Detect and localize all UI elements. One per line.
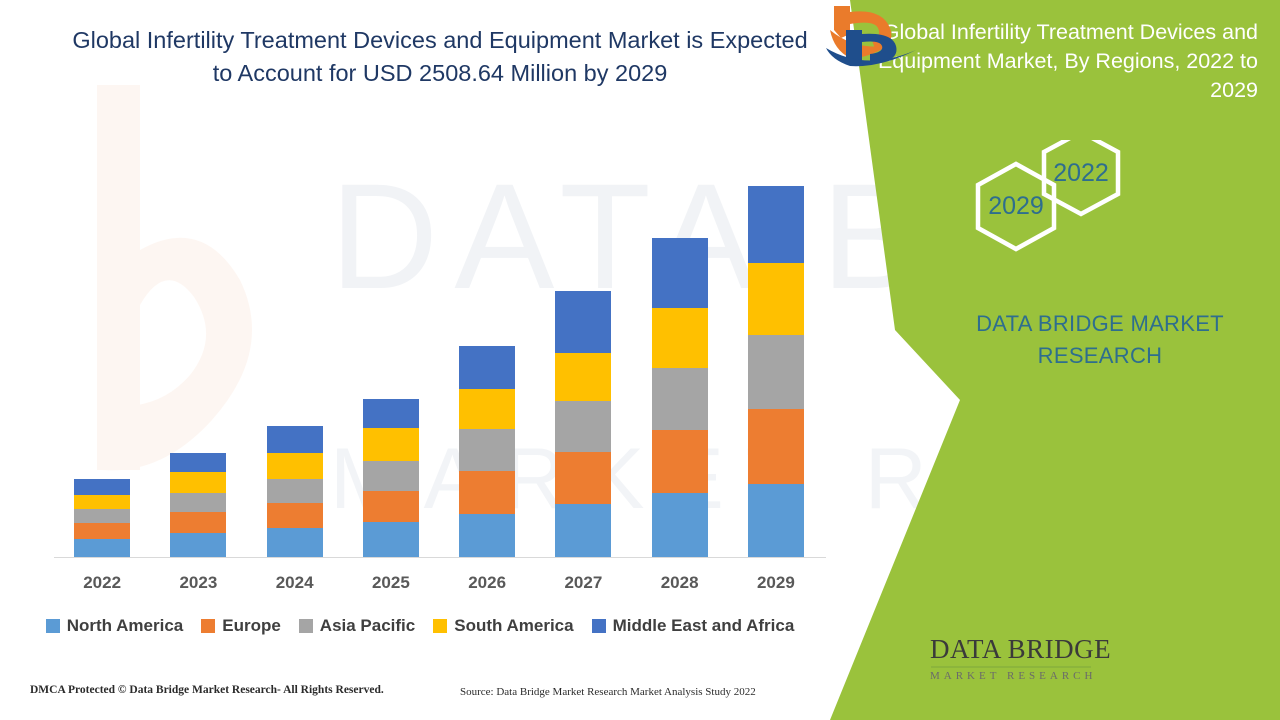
bar-2027 bbox=[555, 291, 611, 557]
x-axis-label-2025: 2025 bbox=[343, 573, 439, 593]
legend-label: North America bbox=[67, 616, 184, 636]
bar-segment bbox=[748, 263, 804, 335]
bar-segment bbox=[459, 389, 515, 429]
bar-segment bbox=[459, 514, 515, 557]
bar-segment bbox=[363, 461, 419, 491]
footer-copyright: DMCA Protected © Data Bridge Market Rese… bbox=[30, 684, 384, 696]
bar-segment bbox=[459, 471, 515, 514]
data-bridge-logo-icon bbox=[820, 0, 1070, 70]
bar-segment bbox=[652, 493, 708, 557]
bar-segment bbox=[74, 523, 130, 539]
bar-segment bbox=[170, 533, 226, 557]
legend-item-europe[interactable]: Europe bbox=[201, 616, 281, 636]
x-axis-label-2022: 2022 bbox=[54, 573, 150, 593]
bar-segment bbox=[363, 491, 419, 522]
legend-item-south-america[interactable]: South America bbox=[433, 616, 573, 636]
legend-swatch-icon bbox=[433, 619, 447, 633]
green-side-panel: Global Infertility Treatment Devices and… bbox=[820, 0, 1280, 720]
logo-sub-text: MARKET RESEARCH bbox=[930, 670, 1111, 682]
legend-label: South America bbox=[454, 616, 573, 636]
bar-segment bbox=[363, 522, 419, 557]
bar-segment bbox=[748, 409, 804, 484]
legend-swatch-icon bbox=[299, 619, 313, 633]
logo-divider bbox=[931, 666, 1091, 668]
bar-segment bbox=[170, 472, 226, 493]
bar-2029 bbox=[748, 186, 804, 557]
bar-segment bbox=[74, 479, 130, 495]
bar-2026 bbox=[459, 346, 515, 557]
bar-segment bbox=[74, 495, 130, 509]
legend-swatch-icon bbox=[46, 619, 60, 633]
chart-legend: North AmericaEuropeAsia PacificSouth Ame… bbox=[0, 616, 840, 636]
bar-segment bbox=[652, 308, 708, 368]
bar-segment bbox=[267, 426, 323, 453]
legend-label: Middle East and Africa bbox=[613, 616, 795, 636]
bar-segment bbox=[267, 479, 323, 503]
x-axis-line bbox=[54, 557, 826, 558]
legend-label: Europe bbox=[222, 616, 281, 636]
bar-segment bbox=[555, 291, 611, 353]
infographic-canvas: DATA BRIDGE MARKET RESEARCH Global Infer… bbox=[0, 0, 1280, 720]
legend-item-middle-east-and-africa[interactable]: Middle East and Africa bbox=[592, 616, 795, 636]
bar-segment bbox=[74, 539, 130, 557]
hex-label-2022: 2022 bbox=[1053, 159, 1109, 187]
hex-label-2029: 2029 bbox=[988, 192, 1044, 220]
bar-segment bbox=[652, 238, 708, 308]
brand-name: DATA BRIDGE MARKET RESEARCH bbox=[955, 308, 1245, 372]
x-axis-label-2028: 2028 bbox=[632, 573, 728, 593]
legend-label: Asia Pacific bbox=[320, 616, 415, 636]
bar-segment bbox=[555, 504, 611, 557]
bar-segment bbox=[170, 512, 226, 533]
hexagon-group: 2029 2022 bbox=[940, 140, 1140, 270]
x-axis-label-2023: 2023 bbox=[150, 573, 246, 593]
bar-segment bbox=[748, 484, 804, 557]
bar-segment bbox=[748, 186, 804, 263]
logo-main-text: DATA BRIDGE bbox=[930, 634, 1111, 665]
bar-segment bbox=[652, 368, 708, 430]
bar-segment bbox=[267, 453, 323, 479]
bar-2022 bbox=[74, 479, 130, 557]
bar-2024 bbox=[267, 426, 323, 557]
legend-item-north-america[interactable]: North America bbox=[46, 616, 184, 636]
bar-2023 bbox=[170, 453, 226, 557]
bar-segment bbox=[555, 353, 611, 401]
bar-2025 bbox=[363, 399, 419, 557]
bar-2028 bbox=[652, 238, 708, 557]
page-title: Global Infertility Treatment Devices and… bbox=[60, 24, 820, 90]
bar-segment bbox=[748, 335, 804, 409]
logo-wordmark: DATA BRIDGE MARKET RESEARCH bbox=[930, 634, 1111, 682]
x-axis-label-2026: 2026 bbox=[439, 573, 535, 593]
footer-source: Source: Data Bridge Market Research Mark… bbox=[460, 686, 756, 698]
bar-segment bbox=[267, 503, 323, 528]
bar-segment bbox=[267, 528, 323, 557]
bar-segment bbox=[555, 401, 611, 452]
hexagons-icon: 2029 2022 bbox=[940, 140, 1140, 270]
bar-segment bbox=[74, 509, 130, 523]
bar-segment bbox=[555, 452, 611, 504]
bar-segment bbox=[363, 428, 419, 461]
bar-segment bbox=[170, 453, 226, 472]
bar-segment bbox=[652, 430, 708, 493]
bar-segment bbox=[170, 493, 226, 512]
x-axis-labels: 20222023202420252026202720282029 bbox=[54, 573, 824, 597]
legend-swatch-icon bbox=[592, 619, 606, 633]
x-axis-label-2029: 2029 bbox=[728, 573, 824, 593]
legend-item-asia-pacific[interactable]: Asia Pacific bbox=[299, 616, 415, 636]
x-axis-label-2027: 2027 bbox=[535, 573, 631, 593]
legend-swatch-icon bbox=[201, 619, 215, 633]
stacked-bar-chart bbox=[54, 120, 824, 557]
bar-segment bbox=[459, 346, 515, 389]
bar-segment bbox=[363, 399, 419, 428]
bar-segment bbox=[459, 429, 515, 471]
x-axis-label-2024: 2024 bbox=[247, 573, 343, 593]
